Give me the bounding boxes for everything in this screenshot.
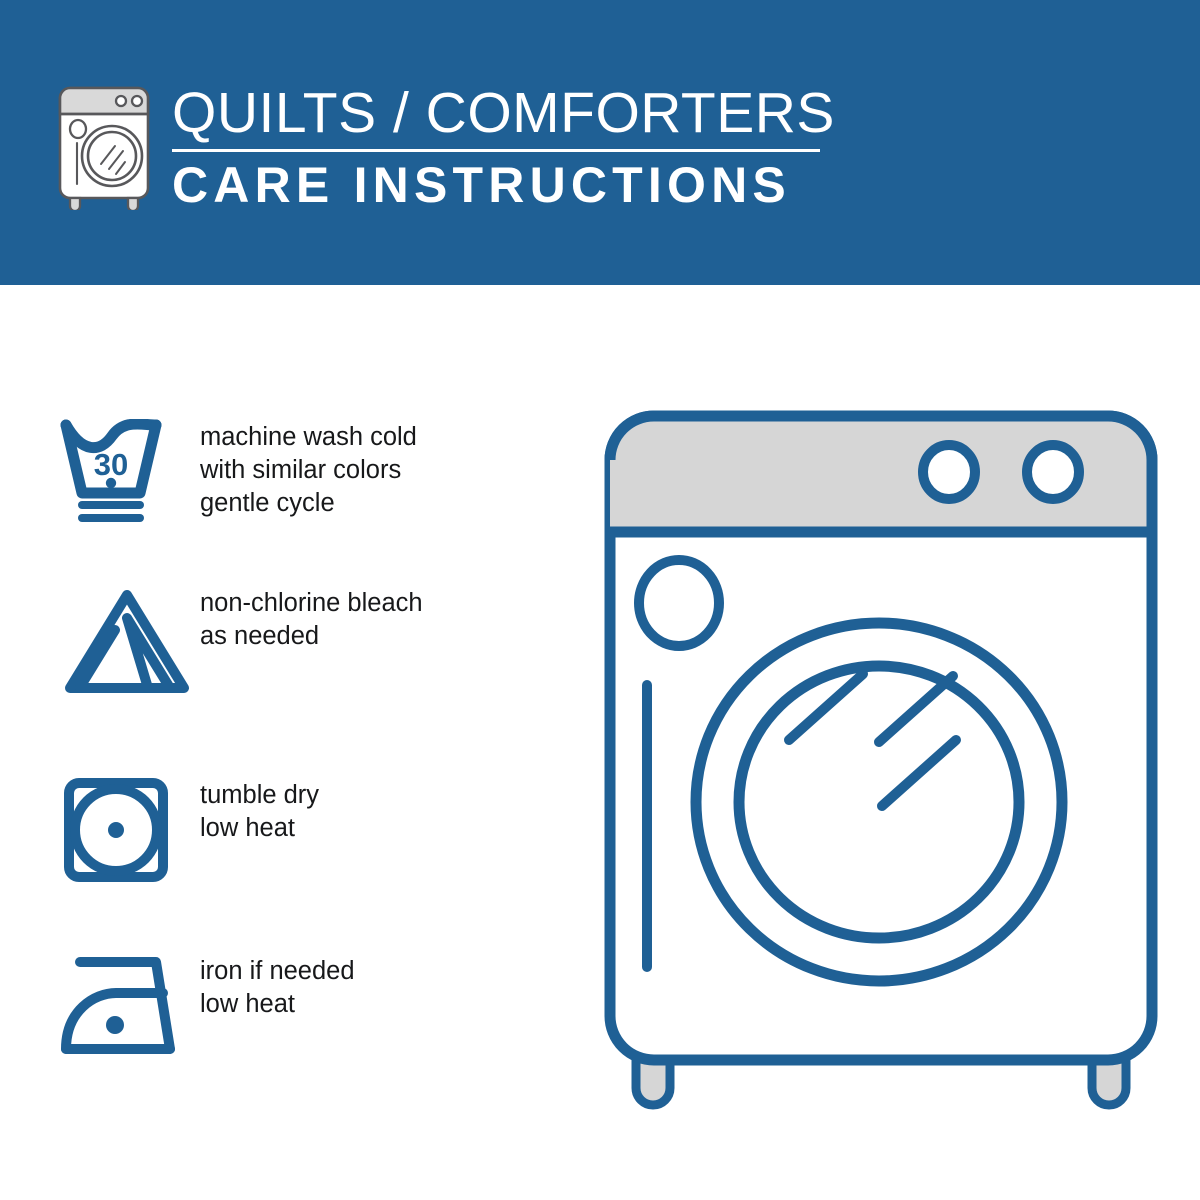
care-item-caption: tumble dry low heat (200, 777, 530, 845)
care-item-iron: iron if needed low heat (60, 953, 530, 1058)
header-content: QUILTS / COMFORTERS CARE INSTRUCTIONS (52, 80, 835, 211)
title-divider (172, 149, 820, 152)
care-symbol-list: 30 machine wash cold with similar colors… (0, 285, 560, 1200)
non-chlorine-bleach-triangle-icon (60, 585, 200, 695)
washer-knob-1 (923, 445, 975, 499)
header-title-group: QUILTS / COMFORTERS CARE INSTRUCTIONS (172, 84, 835, 211)
wash-temperature-label: 30 (94, 447, 128, 482)
care-item-tumble-dry: tumble dry low heat (60, 777, 530, 882)
care-item-caption: machine wash cold with similar colors ge… (200, 419, 530, 520)
care-item-caption: non-chlorine bleach as needed (200, 585, 530, 653)
tumble-dry-low-heat-icon (60, 777, 200, 882)
header-banner: QUILTS / COMFORTERS CARE INSTRUCTIONS (0, 0, 1200, 285)
page-subtitle: CARE INSTRUCTIONS (172, 160, 835, 211)
washing-machine-icon (52, 80, 156, 210)
washer-dispenser-circle (639, 560, 719, 646)
page-title: QUILTS / COMFORTERS (172, 84, 835, 142)
iron-low-heat-icon (60, 953, 200, 1058)
wash-tub-30-gentle-icon: 30 (60, 419, 200, 524)
care-item-machine-wash: 30 machine wash cold with similar colors… (60, 419, 530, 524)
washer-knob-2 (1027, 445, 1079, 499)
care-item-bleach: non-chlorine bleach as needed (60, 585, 530, 695)
washing-machine-illustration (592, 402, 1170, 1118)
care-item-caption: iron if needed low heat (200, 953, 530, 1021)
